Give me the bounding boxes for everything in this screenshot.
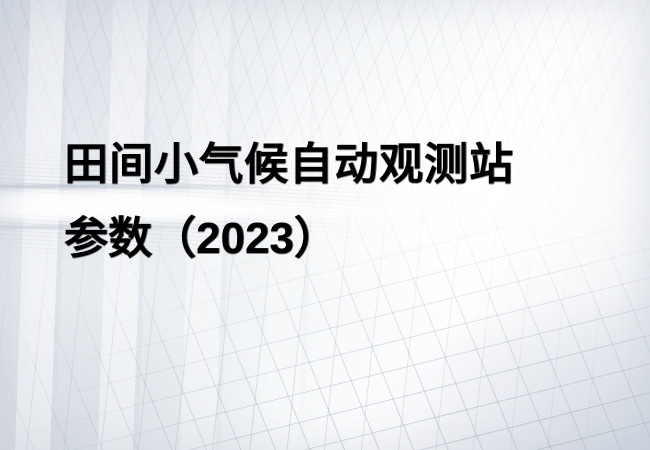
page-title-line-2: 参数（2023） bbox=[64, 202, 584, 276]
page-title-line-1: 田间小气候自动观测站 bbox=[64, 128, 584, 202]
page-title: 田间小气候自动观测站 参数（2023） bbox=[64, 128, 584, 276]
title-slide: 田间小气候自动观测站 参数（2023） bbox=[0, 0, 650, 450]
